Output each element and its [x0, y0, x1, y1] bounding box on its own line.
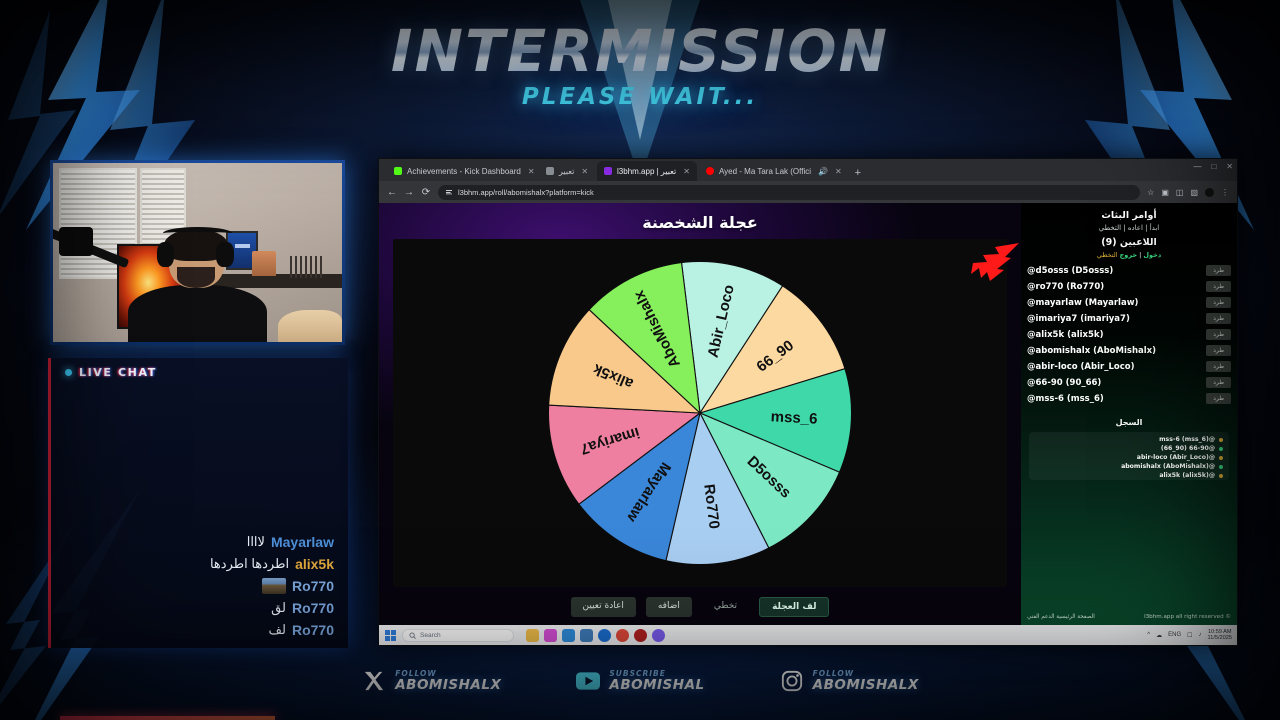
stream-overlay-stage: INTERMISSION PLEASE WAIT... — [0, 0, 1280, 720]
vignette — [0, 0, 1280, 720]
